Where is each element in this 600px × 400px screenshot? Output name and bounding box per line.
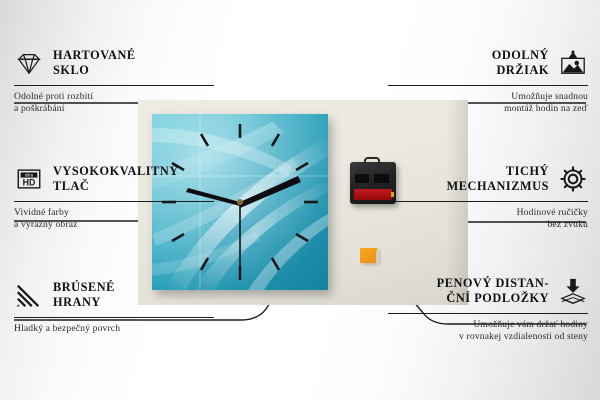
feature-durable-holder: ODOLNÝ DRŽIAK Umožňuje snadnou montáž ho… bbox=[388, 46, 588, 115]
feature-description: Vividné farby a výrazný obraz bbox=[14, 207, 214, 231]
divider bbox=[388, 313, 588, 314]
mechanism-slot-right bbox=[374, 174, 389, 183]
feature-description: Umožňuje snadnou montáž hodin na zeď bbox=[388, 91, 588, 115]
mechanism-hanger-tab bbox=[364, 157, 380, 165]
feature-header: TICHÝ MECHANIZMUS bbox=[388, 162, 588, 196]
mechanism-slot-left bbox=[355, 174, 369, 183]
feature-header: ODOLNÝ DRŽIAK bbox=[388, 46, 588, 80]
feature-description: Umožňuje vám držať hodiny v rovnakej vzd… bbox=[388, 319, 588, 343]
feature-title: TICHÝ MECHANIZMUS bbox=[447, 164, 549, 195]
infographic-canvas: HARTOVANÉ SKLO Odolné proti rozbití a po… bbox=[0, 0, 600, 400]
beveled-edge-icon bbox=[14, 280, 44, 310]
divider bbox=[14, 317, 214, 318]
feature-silent-mechanism: TICHÝ MECHANIZMUS Hodinové ručičky bez z… bbox=[388, 162, 588, 231]
svg-text:HD: HD bbox=[23, 178, 36, 188]
feature-beveled-edges: BRÚSENÉ HRANY Hladký a bezpečný povrch bbox=[14, 278, 214, 335]
feature-high-quality-print: ultra HD VYSOKOKVALITNÝ TLAČ Vividné far… bbox=[14, 162, 214, 231]
feature-title: VYSOKOKVALITNÝ TLAČ bbox=[53, 164, 179, 195]
feature-title: HARTOVANÉ SKLO bbox=[53, 48, 136, 79]
foam-pad-icon bbox=[558, 276, 588, 306]
feature-tempered-glass: HARTOVANÉ SKLO Odolné proti rozbití a po… bbox=[14, 46, 214, 115]
picture-hanger-icon bbox=[558, 48, 588, 78]
feature-header: HARTOVANÉ SKLO bbox=[14, 46, 214, 80]
divider bbox=[388, 201, 588, 202]
battery bbox=[354, 189, 392, 200]
feature-title: PENOVÝ DISTAN- ČNÍ PODLOŽKY bbox=[437, 276, 549, 307]
diamond-icon bbox=[14, 48, 44, 78]
feature-header: PENOVÝ DISTAN- ČNÍ PODLOŽKY bbox=[388, 274, 588, 308]
divider bbox=[14, 85, 214, 86]
gear-icon bbox=[558, 164, 588, 194]
divider bbox=[388, 85, 588, 86]
feature-foam-spacers: PENOVÝ DISTAN- ČNÍ PODLOŽKY Umožňuje vám… bbox=[388, 274, 588, 343]
feature-description: Odolné proti rozbití a poškrábání bbox=[14, 91, 214, 115]
feature-title: BRÚSENÉ HRANY bbox=[53, 280, 115, 311]
feature-header: ultra HD VYSOKOKVALITNÝ TLAČ bbox=[14, 162, 214, 196]
feature-description: Hladký a bezpečný povrch bbox=[14, 323, 214, 335]
foam-spacer-pad bbox=[360, 248, 377, 263]
feature-title: ODOLNÝ DRŽIAK bbox=[492, 48, 549, 79]
feature-header: BRÚSENÉ HRANY bbox=[14, 278, 214, 312]
feature-description: Hodinové ručičky bez zvuku bbox=[388, 207, 588, 231]
divider bbox=[14, 201, 214, 202]
ultra-hd-icon: ultra HD bbox=[14, 164, 44, 194]
